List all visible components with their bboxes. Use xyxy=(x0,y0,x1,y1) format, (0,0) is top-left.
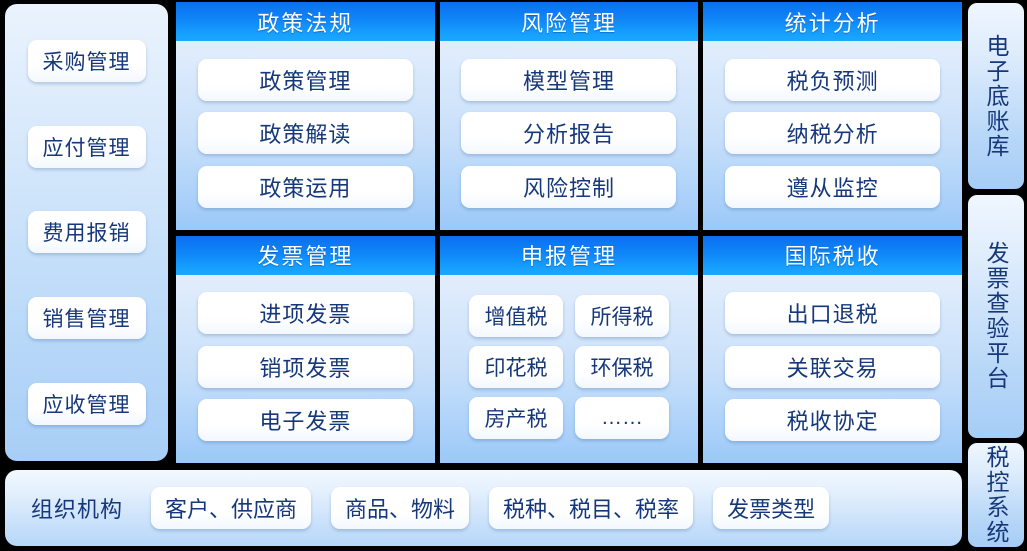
panel-statistical-analysis: 统计分析 税负预测 纳税分析 遵从监控 xyxy=(703,2,962,230)
panel-item-income-tax[interactable]: 所得税 xyxy=(575,295,669,337)
panel-item-compliance-monitoring[interactable]: 遵从监控 xyxy=(725,166,940,208)
right-sidebar: 电子底账库 发票查验平台 税控系统 xyxy=(968,3,1024,547)
panel-item-label: 进项发票 xyxy=(259,297,351,329)
right-sidebar-item-label: 税控系统 xyxy=(979,445,1013,545)
panel-item-label: 环保税 xyxy=(590,352,653,382)
panel-item-label: 政策管理 xyxy=(259,64,351,96)
bottom-bar-item-label: 税种、税目、税率 xyxy=(503,492,679,524)
panel-item-export-tax-refund[interactable]: 出口退税 xyxy=(725,292,940,334)
right-sidebar-item-invoice-verification-platform[interactable]: 发票查验平台 xyxy=(968,195,1024,438)
panel-item-label: 增值税 xyxy=(484,301,547,331)
panel-title: 国际税收 xyxy=(703,236,962,275)
panel-item-tax-treaty[interactable]: 税收协定 xyxy=(725,399,940,441)
bottom-bar-label-organization: 组织机构 xyxy=(23,492,131,524)
panel-item-tax-payment-analysis[interactable]: 纳税分析 xyxy=(725,112,940,154)
panel-item-label: 分析报告 xyxy=(523,117,615,149)
panel-item-policy-application[interactable]: 政策运用 xyxy=(198,166,413,208)
panel-title: 风险管理 xyxy=(440,2,699,41)
panel-international-tax: 国际税收 出口退税 关联交易 税收协定 xyxy=(703,236,962,464)
sidebar-item-label: 应收管理 xyxy=(43,389,131,419)
panel-declaration-management: 申报管理 增值税 所得税 印花税 环保税 房产税 …… xyxy=(440,236,699,464)
panel-body: 增值税 所得税 印花税 环保税 房产税 …… xyxy=(440,275,699,464)
panel-item-label: 风险控制 xyxy=(523,171,615,203)
bottom-bar-item-invoice-type[interactable]: 发票类型 xyxy=(713,487,829,529)
panel-item-stamp-tax[interactable]: 印花税 xyxy=(469,346,563,388)
panel-item-input-invoice[interactable]: 进项发票 xyxy=(198,292,413,334)
panel-item-label: 遵从监控 xyxy=(787,171,879,203)
panel-item-output-invoice[interactable]: 销项发票 xyxy=(198,346,413,388)
panel-item-label: 销项发票 xyxy=(259,351,351,383)
sidebar-item-payable[interactable]: 应付管理 xyxy=(28,126,146,168)
panel-risk-management: 风险管理 模型管理 分析报告 风险控制 xyxy=(440,2,699,230)
panel-item-policy-interpretation[interactable]: 政策解读 xyxy=(198,112,413,154)
panel-item-label: 政策解读 xyxy=(259,117,351,149)
panel-item-vat[interactable]: 增值税 xyxy=(469,295,563,337)
panel-item-label: 出口退税 xyxy=(787,297,879,329)
panel-item-model-management[interactable]: 模型管理 xyxy=(461,59,676,101)
sidebar-item-sales[interactable]: 销售管理 xyxy=(28,297,146,339)
panel-item-related-party-transaction[interactable]: 关联交易 xyxy=(725,346,940,388)
bottom-bar-item-label: 商品、物料 xyxy=(345,492,455,524)
panel-item-risk-control[interactable]: 风险控制 xyxy=(461,166,676,208)
sidebar-item-label: 销售管理 xyxy=(43,303,131,333)
panel-item-more-ellipsis[interactable]: …… xyxy=(575,397,669,439)
panel-title: 统计分析 xyxy=(703,2,962,41)
bottom-bar: 组织机构 客户、供应商 商品、物料 税种、税目、税率 发票类型 xyxy=(5,470,962,546)
panel-item-label: …… xyxy=(601,406,643,430)
sidebar-item-label: 应付管理 xyxy=(43,132,131,162)
app-root: 采购管理 应付管理 费用报销 销售管理 应收管理 政策法规 政策管理 政策解读 … xyxy=(0,0,1027,551)
panel-title: 发票管理 xyxy=(176,236,435,275)
panel-item-property-tax[interactable]: 房产税 xyxy=(469,397,563,439)
left-sidebar: 采购管理 应付管理 费用报销 销售管理 应收管理 xyxy=(5,4,168,461)
panel-body: 政策管理 政策解读 政策运用 xyxy=(176,41,435,230)
right-sidebar-item-electronic-ledger[interactable]: 电子底账库 xyxy=(968,3,1024,189)
panel-item-environmental-tax[interactable]: 环保税 xyxy=(575,346,669,388)
panel-item-label: 所得税 xyxy=(590,301,653,331)
panel-item-label: 房产税 xyxy=(484,403,547,433)
panel-body: 税负预测 纳税分析 遵从监控 xyxy=(703,41,962,230)
panel-item-electronic-invoice[interactable]: 电子发票 xyxy=(198,399,413,441)
panel-item-analysis-report[interactable]: 分析报告 xyxy=(461,112,676,154)
bottom-bar-item-goods-material[interactable]: 商品、物料 xyxy=(331,487,469,529)
sidebar-item-receivable[interactable]: 应收管理 xyxy=(28,383,146,425)
sidebar-item-expense-reimbursement[interactable]: 费用报销 xyxy=(28,211,146,253)
panel-item-label: 税负预测 xyxy=(787,64,879,96)
module-grid: 政策法规 政策管理 政策解读 政策运用 风险管理 模型管理 分析报告 风险控制 … xyxy=(176,2,962,463)
sidebar-item-label: 采购管理 xyxy=(43,46,131,76)
panel-item-label: 关联交易 xyxy=(787,351,879,383)
bottom-bar-item-label: 客户、供应商 xyxy=(165,492,297,524)
right-sidebar-item-tax-control-system[interactable]: 税控系统 xyxy=(968,443,1024,547)
panel-body: 出口退税 关联交易 税收协定 xyxy=(703,275,962,464)
sidebar-item-label: 费用报销 xyxy=(43,217,131,247)
panel-item-tax-burden-forecast[interactable]: 税负预测 xyxy=(725,59,940,101)
right-sidebar-item-label: 电子底账库 xyxy=(979,34,1013,159)
panel-policy-regulation: 政策法规 政策管理 政策解读 政策运用 xyxy=(176,2,435,230)
panel-title: 政策法规 xyxy=(176,2,435,41)
panel-item-policy-management[interactable]: 政策管理 xyxy=(198,59,413,101)
sidebar-item-procurement[interactable]: 采购管理 xyxy=(28,40,146,82)
panel-item-label: 模型管理 xyxy=(523,64,615,96)
right-sidebar-item-label: 发票查验平台 xyxy=(979,241,1013,391)
panel-item-label: 电子发票 xyxy=(259,404,351,436)
panel-invoice-management: 发票管理 进项发票 销项发票 电子发票 xyxy=(176,236,435,464)
bottom-bar-item-label: 发票类型 xyxy=(727,492,815,524)
panel-item-label: 纳税分析 xyxy=(787,117,879,149)
panel-title: 申报管理 xyxy=(440,236,699,275)
panel-body: 模型管理 分析报告 风险控制 xyxy=(440,41,699,230)
panel-item-label: 印花税 xyxy=(484,352,547,382)
panel-item-label: 税收协定 xyxy=(787,404,879,436)
bottom-bar-item-customer-supplier[interactable]: 客户、供应商 xyxy=(151,487,311,529)
panel-item-label: 政策运用 xyxy=(259,171,351,203)
panel-body: 进项发票 销项发票 电子发票 xyxy=(176,275,435,464)
bottom-bar-item-tax-type-item-rate[interactable]: 税种、税目、税率 xyxy=(489,487,693,529)
